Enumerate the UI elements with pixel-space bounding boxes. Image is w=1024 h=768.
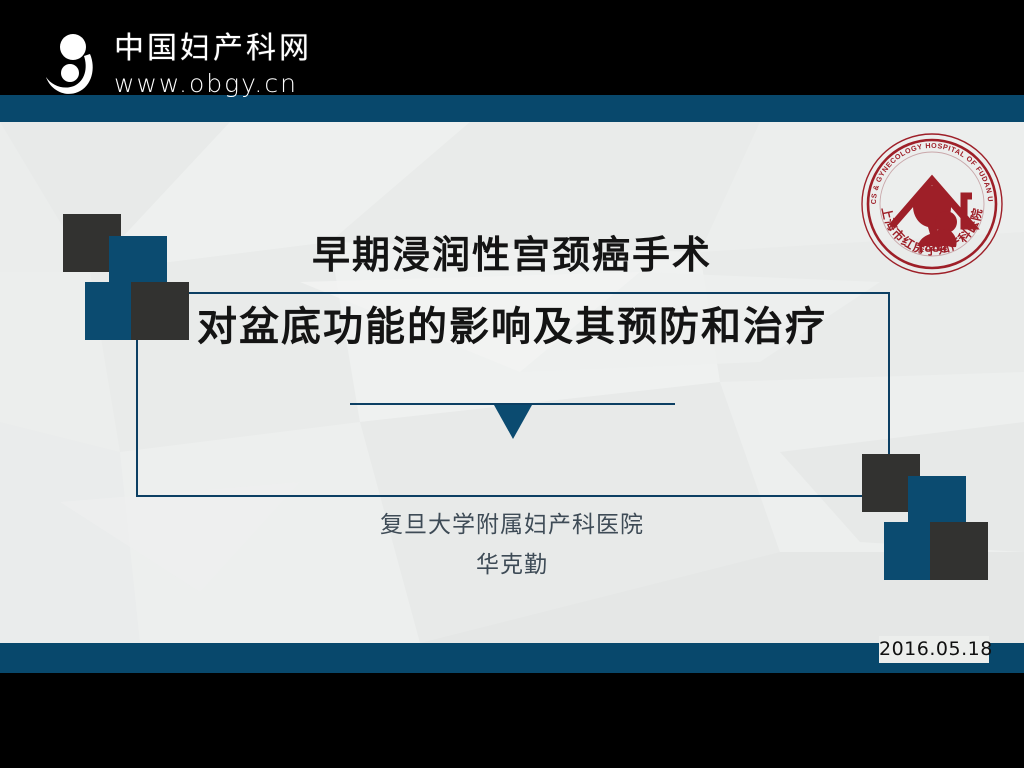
presenter-name: 华克勤 [0,550,1024,580]
letterbox-bottom-black-band [0,673,1024,768]
hospital-seal-logo: OBSTETRICS & GYNECOLOGY HOSPITAL OF FUDA… [858,130,1006,278]
seal-year: 1884 [917,240,948,256]
footer-blue-band [0,643,1024,673]
date-badge: 2016.05.18 [879,636,989,663]
slide-viewer: 早期浸润性宫颈癌手术 对盆底功能的影响及其预防和治疗 复旦大学附属妇产科医院 华… [0,0,1024,768]
header-blue-band [0,95,1024,122]
accent-squares-right [862,454,966,558]
slide-canvas: 早期浸润性宫颈癌手术 对盆底功能的影响及其预防和治疗 复旦大学附属妇产科医院 华… [0,122,1024,643]
slide-title-line-2: 对盆底功能的影响及其预防和治疗 [0,302,1024,352]
down-triangle-icon [494,405,532,439]
affiliation-text: 复旦大学附属妇产科医院 [0,510,1024,540]
letterbox-top-black-band [0,0,1024,95]
